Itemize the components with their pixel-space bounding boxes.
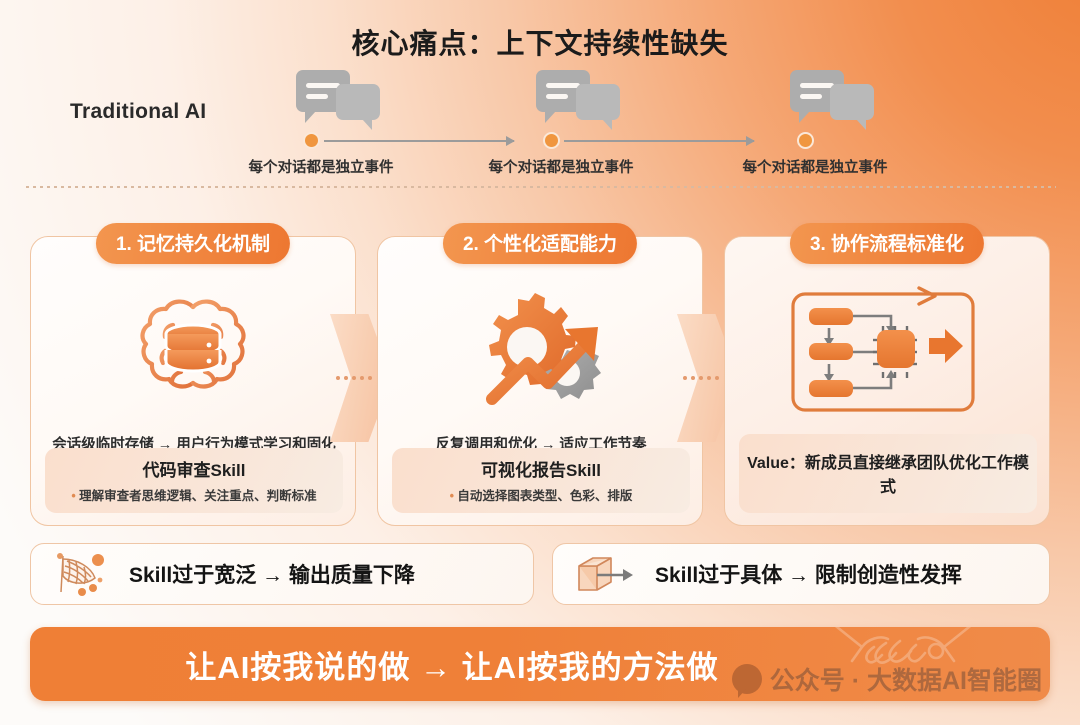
bubble-line xyxy=(546,83,580,88)
card-skill-bullet: 理解审查者思维逻辑、关注重点、判断标准 xyxy=(51,485,337,504)
bubble-line xyxy=(306,94,328,99)
workflow-chip-icon xyxy=(725,277,1049,427)
chat-bubbles-icon xyxy=(790,70,880,128)
warnings-section: Skill过于宽泛 → 输出质量下降 Skill过于具体 → 限制创造性发挥 xyxy=(0,543,1080,611)
warning-text: Skill过于宽泛 → 输出质量下降 xyxy=(129,559,415,589)
bubble-line xyxy=(800,94,822,99)
timeline-caption: 每个对话都是独立事件 xyxy=(206,156,436,177)
card-pill-label: 2. 个性化适配能力 xyxy=(443,223,637,264)
chat-bubbles-icon xyxy=(536,70,626,128)
chat-bubble-front xyxy=(336,84,380,120)
chat-bubble-front xyxy=(830,84,874,120)
wechat-badge-icon xyxy=(732,664,762,694)
card-skill-title: 代码审查Skill xyxy=(51,456,337,481)
traditional-ai-label: Traditional AI xyxy=(70,100,206,124)
warning-too-broad[interactable]: Skill过于宽泛 → 输出质量下降 xyxy=(30,543,534,605)
cube-arrow-icon xyxy=(573,550,639,598)
timeline-node-1: 每个对话都是独立事件 xyxy=(278,70,528,128)
timeline-connector xyxy=(564,140,754,142)
timeline-dot xyxy=(797,132,814,149)
card-memory-persistence[interactable]: 1. 记忆持久化机制 xyxy=(30,236,356,526)
warning-text: Skill过于具体 → 限制创造性发挥 xyxy=(655,559,962,589)
banner-text: 让AI按我说的做 → 让AI按我的方法做 xyxy=(185,642,718,687)
card-highlight-box: 可视化报告Skill 自动选择图表类型、色彩、排版 xyxy=(392,448,690,513)
card-pill-label: 1. 记忆持久化机制 xyxy=(96,223,290,264)
brain-database-icon xyxy=(31,277,355,427)
warning-too-specific[interactable]: Skill过于具体 → 限制创造性发挥 xyxy=(552,543,1050,605)
card-workflow-standardization[interactable]: 3. 协作流程标准化 xyxy=(724,236,1050,526)
timeline-connector xyxy=(324,140,514,142)
card-pill-label: 3. 协作流程标准化 xyxy=(790,223,984,264)
chat-bubbles-icon xyxy=(296,70,386,128)
card-personalization[interactable]: 2. 个性化适配能力 xyxy=(377,236,703,526)
infographic-page: 核心痛点：上下文持续性缺失 Traditional AI 每个对话都是独立事件 xyxy=(0,0,1080,725)
timeline-caption: 每个对话都是独立事件 xyxy=(700,156,930,177)
capability-cards: 1. 记忆持久化机制 xyxy=(0,222,1080,527)
card-skill-title: 可视化报告Skill xyxy=(398,456,684,481)
conclusion-banner[interactable]: 让AI按我说的做 → 让AI按我的方法做 公众号 · 大数据AI智能圈 xyxy=(30,627,1050,701)
card-value-text: Value：新成员直接继承团队优化工作模式 xyxy=(745,449,1031,497)
bubble-line xyxy=(306,83,340,88)
header-section: 核心痛点：上下文持续性缺失 Traditional AI 每个对话都是独立事件 xyxy=(0,0,1080,186)
bubble-line xyxy=(800,83,834,88)
channel-watermark: 公众号 · 大数据AI智能圈 xyxy=(732,661,1042,697)
timeline-dot xyxy=(303,132,320,149)
timeline-node-3: 每个对话都是独立事件 xyxy=(772,70,1022,128)
card-highlight-box: 代码审查Skill 理解审查者思维逻辑、关注重点、判断标准 xyxy=(45,448,343,513)
timeline-caption: 每个对话都是独立事件 xyxy=(446,156,676,177)
watermark-text: 公众号 · 大数据AI智能圈 xyxy=(770,661,1042,697)
card-skill-bullet: 自动选择图表类型、色彩、排版 xyxy=(398,485,684,504)
card-highlight-box: Value：新成员直接继承团队优化工作模式 xyxy=(739,434,1037,513)
section-divider xyxy=(26,186,1056,188)
bubble-line xyxy=(546,94,568,99)
chat-bubble-front xyxy=(576,84,620,120)
timeline-dot xyxy=(543,132,560,149)
timeline-node-2: 每个对话都是独立事件 xyxy=(518,70,768,128)
net-escaping-dots-icon xyxy=(51,550,113,598)
gear-growth-arrow-icon xyxy=(378,277,702,427)
page-title: 核心痛点：上下文持续性缺失 xyxy=(0,22,1080,62)
